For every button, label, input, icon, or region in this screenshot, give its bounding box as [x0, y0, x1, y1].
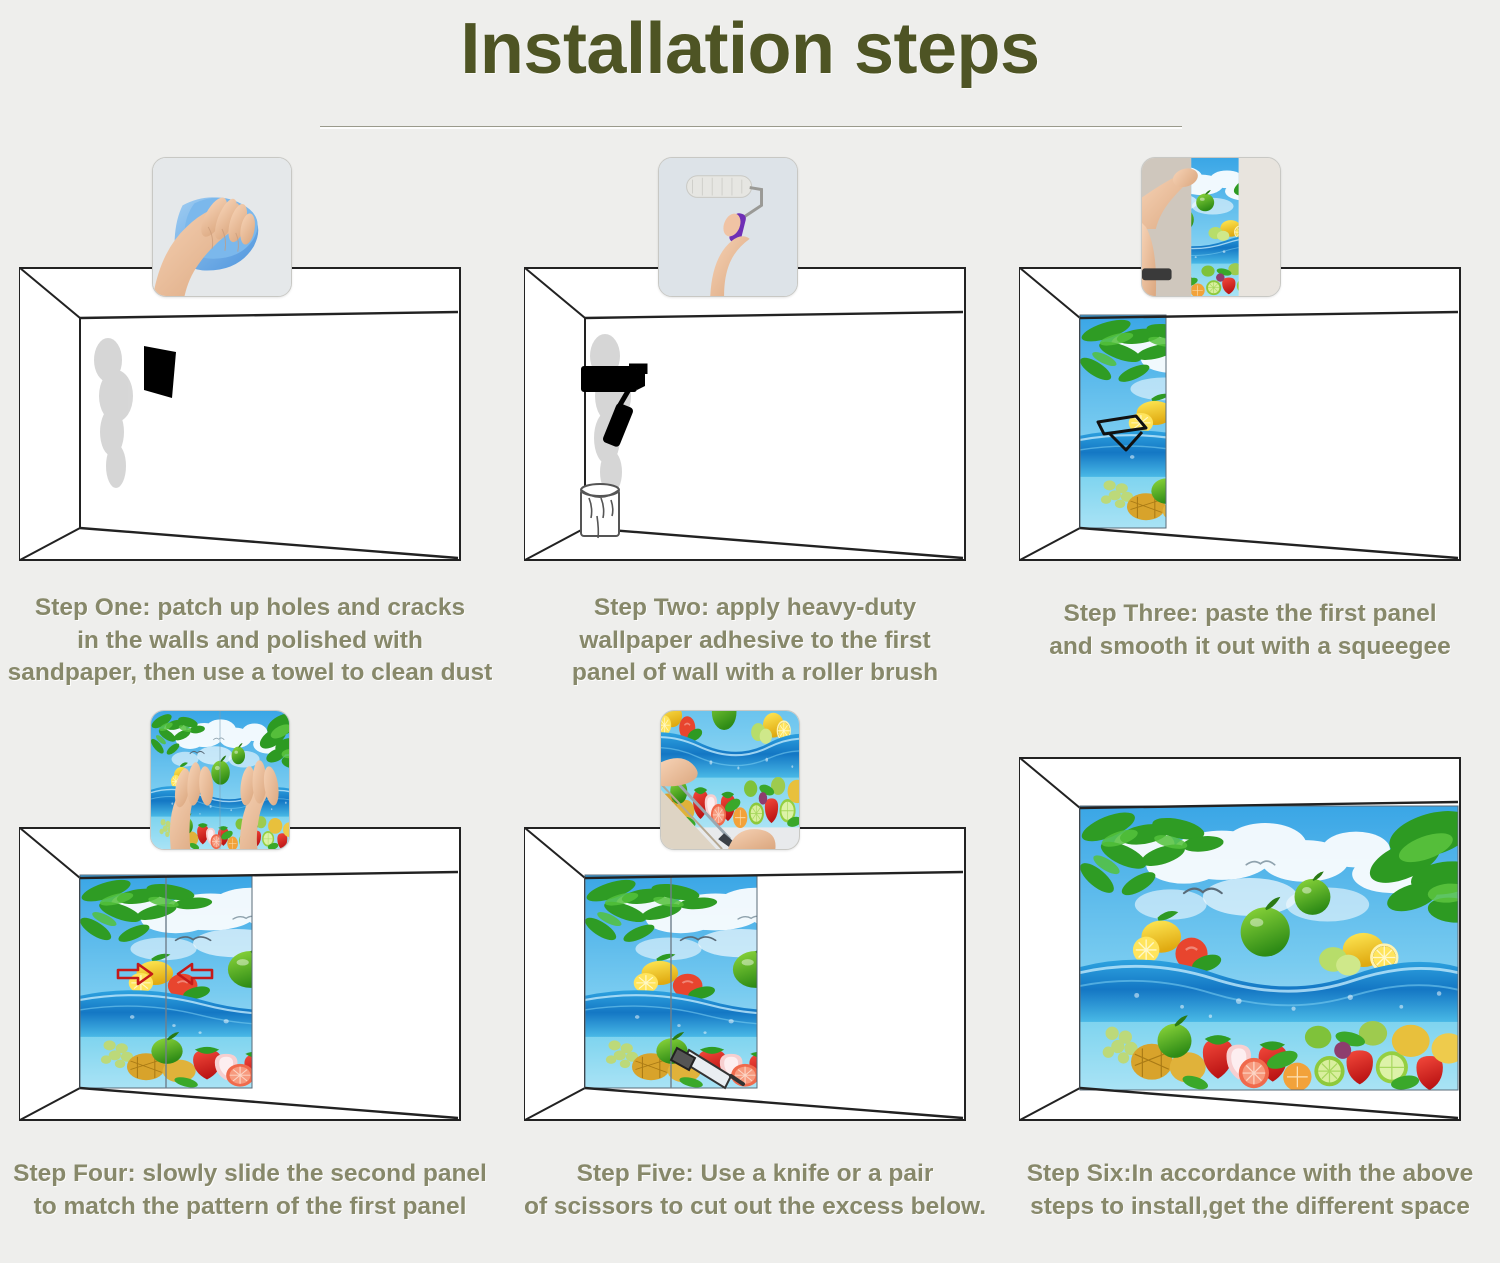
page-title: Installation steps — [0, 8, 1500, 90]
paint-bucket-icon — [581, 484, 619, 538]
step-one-caption: Step One: patch up holes and cracks in t… — [0, 592, 500, 690]
sponge-icon — [144, 346, 176, 398]
title-divider — [320, 126, 1182, 129]
step-five-caption: Step Five: Use a knife or a pair of scis… — [505, 1158, 1005, 1223]
step-four-caption: Step Four: slowly slide the second panel… — [0, 1158, 500, 1223]
room-diagram-full-mural — [1000, 720, 1500, 1150]
step-card-four: Step Four: slowly slide the second panel… — [0, 720, 500, 1263]
step-one-thumbnail — [152, 157, 292, 297]
step-two-thumbnail — [658, 157, 798, 297]
person-pasting-mural-panel-photo — [1142, 158, 1280, 296]
hand-wiping-wall-with-blue-cloth-photo — [153, 158, 291, 296]
step-two-caption: Step Two: apply heavy-duty wallpaper adh… — [505, 592, 1005, 690]
step-three-caption: Step Three: paste the first panel and sm… — [1000, 598, 1500, 663]
step-card-two: Step Two: apply heavy-duty wallpaper adh… — [505, 160, 1005, 705]
step-card-six: Step Six:In accordance with the above st… — [1000, 720, 1500, 1263]
step-five-thumbnail — [660, 710, 800, 850]
step-six-illustration — [1000, 720, 1500, 1150]
step-four-thumbnail — [150, 710, 290, 850]
step-card-one: Step One: patch up holes and cracks in t… — [0, 160, 500, 705]
two-hands-smoothing-mural-photo — [151, 711, 289, 849]
step-card-three: Step Three: paste the first panel and sm… — [1000, 160, 1500, 705]
paint-roller-on-wall-photo — [659, 158, 797, 296]
steps-grid: Step One: patch up holes and cracks in t… — [0, 160, 1500, 1250]
knife-trimming-wallpaper-photo — [661, 711, 799, 849]
step-six-caption: Step Six:In accordance with the above st… — [1000, 1158, 1500, 1223]
step-card-five: Step Five: Use a knife or a pair of scis… — [505, 720, 1005, 1263]
step-three-thumbnail — [1141, 157, 1281, 297]
installation-steps-page: { "header": { "title": "Installation ste… — [0, 0, 1500, 1263]
